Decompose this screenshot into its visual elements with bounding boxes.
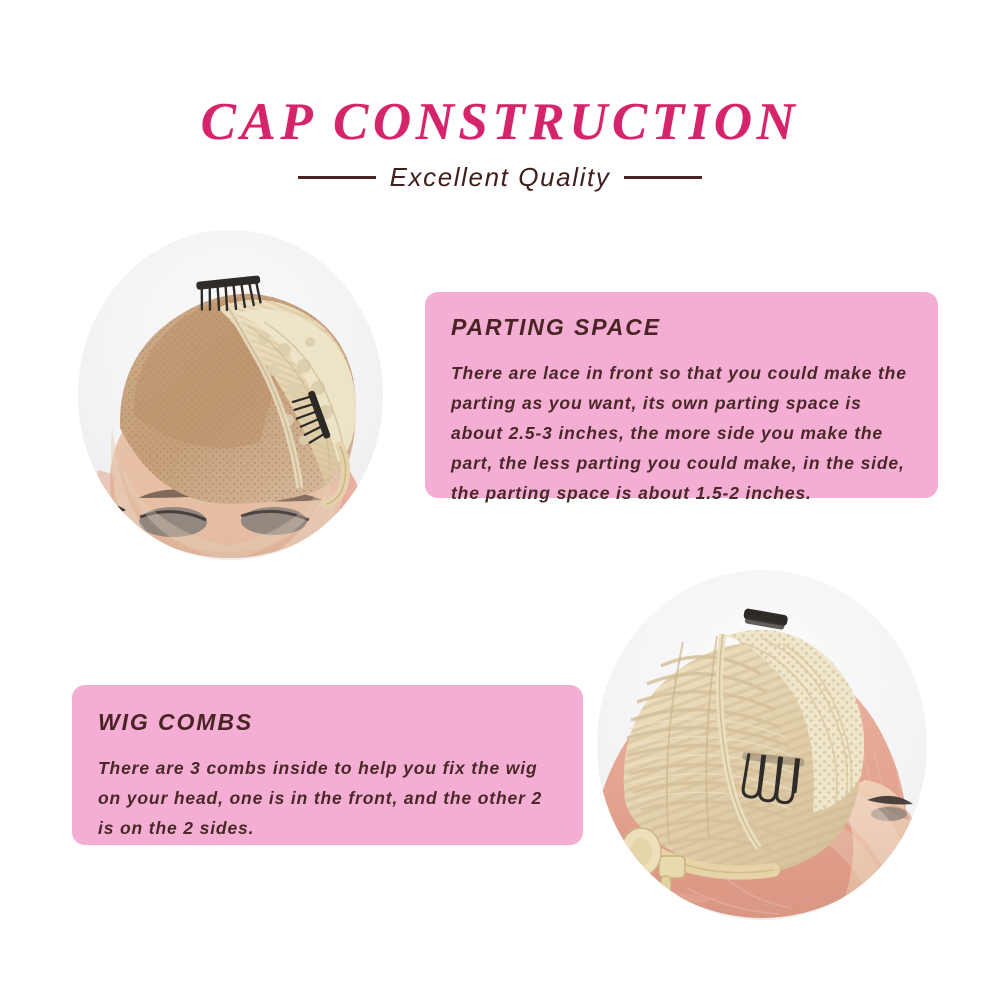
wig-combs-panel: WIG COMBS There are 3 combs inside to he…	[72, 685, 583, 845]
cap-construction-infographic: CAP CONSTRUCTION Excellent Quality	[0, 0, 1000, 1000]
divider-line-right	[624, 176, 702, 179]
wig-cap-side-photo	[597, 570, 927, 920]
page-title: CAP CONSTRUCTION	[0, 95, 1000, 151]
wig-cap-front-illustration	[78, 230, 383, 560]
parting-space-body: There are lace in front so that you coul…	[451, 358, 912, 508]
header: CAP CONSTRUCTION Excellent Quality	[0, 95, 1000, 193]
wig-cap-front-photo	[78, 230, 383, 560]
page-subtitle: Excellent Quality	[390, 162, 611, 193]
parting-space-panel: PARTING SPACE There are lace in front so…	[425, 292, 938, 498]
divider-line-left	[298, 176, 376, 179]
wig-combs-body: There are 3 combs inside to help you fix…	[98, 753, 557, 843]
parting-space-title: PARTING SPACE	[451, 314, 912, 341]
subtitle-row: Excellent Quality	[0, 162, 1000, 193]
wig-combs-title: WIG COMBS	[98, 709, 557, 736]
wig-cap-side-illustration	[597, 570, 927, 920]
